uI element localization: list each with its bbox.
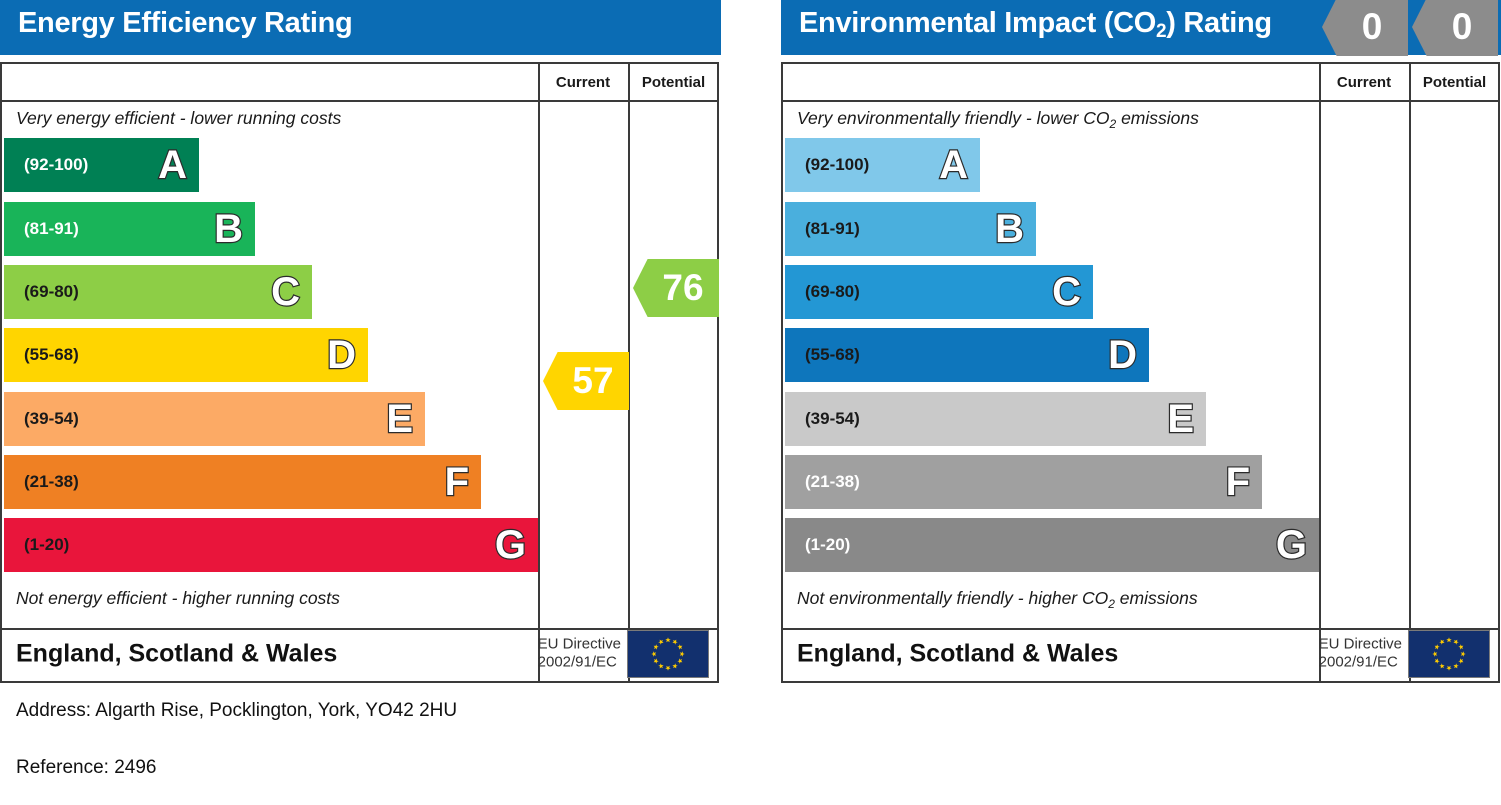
environmental-bottom-caption: Not environmentally friendly - higher CO…: [797, 588, 1198, 609]
environmental-top-caption: Very environmentally friendly - lower CO…: [797, 108, 1199, 129]
eu-flag-icon: [1408, 630, 1490, 678]
environmental-band-E-letter: E: [1167, 399, 1194, 439]
environmental-top-caption-a: Very environmentally friendly - lower CO: [797, 108, 1110, 128]
eu-flag-icon: [627, 630, 709, 678]
energy-top-caption: Very energy efficient - lower running co…: [16, 108, 341, 129]
environmental-band-A-range: (92-100): [805, 155, 869, 175]
environmental-bottom-caption-a: Not environmentally friendly - higher CO: [797, 588, 1108, 608]
environmental-chart-title-main: Environmental Impact (CO: [799, 7, 1156, 39]
environmental-col-divider-potential: [1409, 64, 1411, 681]
environmental-header-rule: [783, 100, 1498, 102]
energy-band-E: (39-54) E: [4, 392, 425, 446]
energy-potential-rating-badge: 76: [633, 259, 719, 317]
energy-band-B-letter: B: [214, 209, 243, 249]
environmental-top-caption-sub: 2: [1110, 117, 1117, 131]
environmental-band-D-letter: D: [1108, 335, 1137, 375]
energy-band-G: (1-20) G: [4, 518, 538, 572]
environmental-bottom-caption-sub: 2: [1108, 597, 1115, 611]
environmental-band-C: (69-80) C: [785, 265, 1093, 319]
energy-band-F-letter: F: [445, 462, 469, 502]
environmental-band-D: (55-68) D: [785, 328, 1149, 382]
energy-footer-region: England, Scotland & Wales: [16, 639, 337, 668]
energy-band-D: (55-68) D: [4, 328, 368, 382]
energy-band-C-letter: C: [271, 272, 300, 312]
environmental-band-B-range: (81-91): [805, 219, 860, 239]
energy-band-C-range: (69-80): [24, 282, 79, 302]
energy-potential-rating-value: 76: [662, 267, 703, 309]
environmental-band-C-letter: C: [1052, 272, 1081, 312]
energy-current-rating-value: 57: [572, 360, 613, 402]
energy-band-C: (69-80) C: [4, 265, 312, 319]
environmental-chart-title-tail: ) Rating: [1166, 7, 1272, 39]
energy-footer-directive: EU Directive 2002/91/EC: [538, 635, 621, 673]
energy-column-header-potential: Potential: [628, 70, 719, 96]
energy-band-E-range: (39-54): [24, 409, 79, 429]
environmental-potential-rating-badge: 0: [1412, 0, 1498, 56]
energy-band-A: (92-100) A: [4, 138, 199, 192]
energy-band-E-letter: E: [386, 399, 413, 439]
environmental-chart-header: Environmental Impact (CO2) Rating 0 0: [781, 0, 1501, 55]
environmental-chart-title-sub: 2: [1156, 21, 1166, 42]
environmental-column-header-potential: Potential: [1409, 70, 1500, 96]
energy-band-D-range: (55-68): [24, 345, 79, 365]
energy-band-A-letter: A: [158, 145, 187, 185]
environmental-chart-table: Current Potential Very environmentally f…: [781, 62, 1500, 683]
environmental-footer-directive: EU Directive 2002/91/EC: [1319, 635, 1402, 673]
environmental-band-B: (81-91) B: [785, 202, 1036, 256]
environmental-footer-directive-line2: 2002/91/EC: [1319, 654, 1402, 673]
energy-band-G-range: (1-20): [24, 535, 69, 555]
energy-band-F: (21-38) F: [4, 455, 481, 509]
energy-band-A-range: (92-100): [24, 155, 88, 175]
environmental-column-header-current: Current: [1319, 70, 1409, 96]
environmental-col-divider-current: [1319, 64, 1321, 681]
environmental-band-D-range: (55-68): [805, 345, 860, 365]
environmental-band-G: (1-20) G: [785, 518, 1319, 572]
energy-bottom-caption: Not energy efficient - higher running co…: [16, 588, 340, 609]
environmental-bottom-caption-b: emissions: [1115, 588, 1198, 608]
environmental-band-B-letter: B: [995, 209, 1024, 249]
environmental-top-caption-b: emissions: [1116, 108, 1199, 128]
environmental-band-A-letter: A: [939, 145, 968, 185]
environmental-band-F-range: (21-38): [805, 472, 860, 492]
environmental-chart-footer: England, Scotland & Wales EU Directive 2…: [783, 626, 1498, 681]
energy-footer-directive-line2: 2002/91/EC: [538, 654, 621, 673]
energy-band-B: (81-91) B: [4, 202, 255, 256]
environmental-band-C-range: (69-80): [805, 282, 860, 302]
environmental-band-E-range: (39-54): [805, 409, 860, 429]
energy-efficiency-chart: Energy Efficiency Rating Current Potenti…: [0, 0, 721, 684]
energy-current-rating-badge: 57: [543, 352, 629, 410]
environmental-current-rating-badge: 0: [1322, 0, 1408, 56]
environmental-band-A: (92-100) A: [785, 138, 980, 192]
energy-band-G-letter: G: [495, 525, 526, 565]
energy-band-D-letter: D: [327, 335, 356, 375]
energy-band-F-range: (21-38): [24, 472, 79, 492]
environmental-band-G-letter: G: [1276, 525, 1307, 565]
energy-footer-directive-line1: EU Directive: [538, 635, 621, 654]
energy-chart-table: Current Potential Very energy efficient …: [0, 62, 719, 683]
environmental-band-G-range: (1-20): [805, 535, 850, 555]
energy-band-B-range: (81-91): [24, 219, 79, 239]
energy-column-header-current: Current: [538, 70, 628, 96]
environmental-band-F: (21-38) F: [785, 455, 1262, 509]
environmental-impact-chart: Environmental Impact (CO2) Rating 0 0 Cu…: [781, 0, 1501, 684]
environmental-band-F-letter: F: [1226, 462, 1250, 502]
reference-label: Reference: 2496: [16, 757, 157, 779]
environmental-chart-title: Environmental Impact (CO2) Rating: [799, 7, 1272, 40]
address-label: Address: Algarth Rise, Pocklington, York…: [16, 700, 457, 722]
environmental-current-rating-value: 0: [1362, 6, 1383, 48]
energy-chart-header: Energy Efficiency Rating: [0, 0, 721, 55]
environmental-potential-rating-value: 0: [1452, 6, 1473, 48]
environmental-footer-directive-line1: EU Directive: [1319, 635, 1402, 654]
environmental-band-E: (39-54) E: [785, 392, 1206, 446]
energy-chart-footer: England, Scotland & Wales EU Directive 2…: [2, 626, 717, 681]
energy-chart-title: Energy Efficiency Rating: [18, 7, 352, 40]
energy-col-divider-current: [538, 64, 540, 681]
energy-header-rule: [2, 100, 717, 102]
environmental-footer-region: England, Scotland & Wales: [797, 639, 1118, 668]
